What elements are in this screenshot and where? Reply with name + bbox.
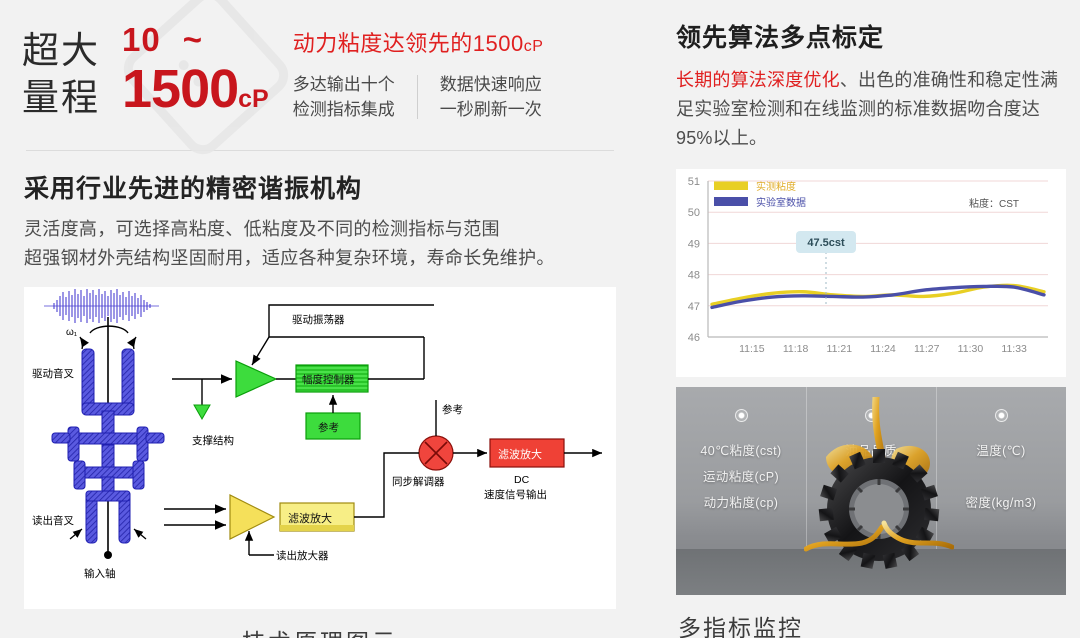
multi-metric-photo-card: 40℃粘度(cst) 运动粘度(cP) 动力粘度(cp) 油品品质 含水率(%)… <box>676 387 1066 595</box>
bullet-dot-icon <box>735 409 748 422</box>
annotation-label: 47.5cst <box>807 237 845 249</box>
filter-amplifier-red-box: 滤波放大 <box>490 439 564 467</box>
legend-swatch-lab <box>714 197 748 206</box>
legend-swatch-measured <box>714 181 748 190</box>
left-section-title: 采用行业先进的精密谐振机构 <box>24 169 618 205</box>
y-tick-label: 46 <box>688 332 700 344</box>
left-section-body-line2: 超强钢材外壳结构坚固耐用，适应各种复杂环境，寿命长免维护。 <box>24 244 618 273</box>
support-structure-label: 支撑结构 <box>192 434 234 447</box>
hero-range-min-row: 10~ <box>122 20 269 60</box>
bullet-dot-icon <box>995 409 1008 422</box>
hero-label-line2: 量程 <box>22 74 100 121</box>
photo-right-line-2: 密度(kg/m3) <box>936 490 1066 516</box>
reference-2-label: 参考 <box>442 403 463 416</box>
photo-column-right: 温度(℃) 密度(kg/m3) <box>936 409 1066 516</box>
y-tick-label: 51 <box>688 176 700 188</box>
hero-claim-unit: cP <box>524 38 544 55</box>
omega-label: ω₁ <box>66 327 78 338</box>
drive-oscillator-label: 驱动振荡器 <box>292 313 345 326</box>
sync-demodulator-icon <box>419 436 453 470</box>
left-panel: 超大 量程 10~ 1500cP 动力粘度达领先的1500cP 多达输出十个 <box>0 0 640 638</box>
speed-signal-output-label: 速度信号输出 <box>484 488 547 501</box>
hero-range-max: 1500 <box>122 59 238 119</box>
legend-label-measured: 实测粘度 <box>756 180 796 193</box>
column-gap <box>640 0 658 638</box>
vertical-divider <box>417 75 418 119</box>
input-shaft-dot <box>104 551 112 559</box>
hero-range-tilde: ~ <box>183 21 203 58</box>
y-tick-label: 47 <box>688 301 700 313</box>
horizontal-divider <box>26 150 614 151</box>
hero-range-unit: cP <box>238 85 269 113</box>
hero-claim: 动力粘度达领先的1500cP <box>293 26 544 58</box>
photo-column-left: 40℃粘度(cst) 运动粘度(cP) 动力粘度(cp) <box>676 409 806 516</box>
hero-claim-text: 动力粘度达领先的1500 <box>293 31 524 56</box>
x-tick-label: 11:24 <box>870 343 896 355</box>
hero-sub-1-line1: 多达输出十个 <box>293 72 395 97</box>
hero-sub-claims: 多达输出十个 检测指标集成 数据快速响应 一秒刷新一次 <box>293 72 544 122</box>
right-panel: 领先算法多点标定 长期的算法深度优化、出色的准确性和稳定性满足实验室检测和在线监… <box>658 0 1080 638</box>
photo-left-line-2: 运动粘度(cP) <box>676 464 806 490</box>
amplitude-controller-label: 幅度控制器 <box>302 373 355 386</box>
hero-sub-2: 数据快速响应 一秒刷新一次 <box>440 72 542 122</box>
x-tick-label: 11:33 <box>1001 343 1027 355</box>
left-section-body-line1: 灵活度高，可选择高粘度、低粘度及不同的检测指标与范围 <box>24 215 618 244</box>
hero-sub-1: 多达输出十个 检测指标集成 <box>293 72 395 122</box>
hero-claims: 动力粘度达领先的1500cP 多达输出十个 检测指标集成 数据快速响应 一秒刷新… <box>293 26 544 122</box>
x-tick-label: 11:18 <box>783 343 809 355</box>
filter-amplifier-yellow-label: 滤波放大 <box>288 511 332 525</box>
drive-fork-label: 驱动音叉 <box>32 367 74 380</box>
hero-range-number: 10~ 1500cP <box>122 20 269 128</box>
hero-label-line1: 超大 <box>22 27 100 74</box>
right-section-title: 领先算法多点标定 <box>676 18 1062 54</box>
x-tick-label: 11:21 <box>827 343 853 355</box>
reference-box-1: 参考 <box>306 413 360 439</box>
y-tick-label: 49 <box>688 238 700 250</box>
hero-sub-2-line1: 数据快速响应 <box>440 72 542 97</box>
x-tick-label: 11:27 <box>914 343 940 355</box>
hero-range-block: 超大 量程 10~ 1500cP 动力粘度达领先的1500cP 多达输出十个 <box>22 0 618 142</box>
chart-unit-note: 粘度：CST <box>969 197 1019 210</box>
right-body-highlight: 长期的算法深度优化 <box>676 70 840 90</box>
hero-sub-1-line2: 检测指标集成 <box>293 97 395 122</box>
sync-demodulator-label: 同步解调器 <box>392 475 445 488</box>
readout-amplifier-label: 读出放大器 <box>276 549 329 562</box>
hero-range-min: 10 <box>122 21 161 58</box>
photo-left-line-1: 40℃粘度(cst) <box>676 438 806 464</box>
y-tick-label: 50 <box>688 207 700 219</box>
gear-oil-svg <box>804 397 954 587</box>
reference-1-label: 参考 <box>318 421 339 434</box>
filter-amplifier-red-label: 滤波放大 <box>498 447 542 461</box>
photo-left-line-3: 动力粘度(cp) <box>676 490 806 516</box>
technical-diagram-svg: ω₁ <box>24 287 616 609</box>
infographic-page: 超大 量程 10~ 1500cP 动力粘度达领先的1500cP 多达输出十个 <box>0 0 1080 638</box>
right-section-body: 长期的算法深度优化、出色的准确性和稳定性满足实验室检测和在线监测的标准数据吻合度… <box>676 66 1062 153</box>
x-tick-label: 11:30 <box>958 343 984 355</box>
filter-amplifier-yellow-box: 滤波放大 <box>280 503 354 531</box>
legend-label-lab: 实验室数据 <box>756 196 806 209</box>
hero-label: 超大 量程 <box>22 27 100 121</box>
dc-label: DC <box>514 474 530 486</box>
viscosity-chart-card: 实测粘度 实验室数据 粘度：CST 464748495051 <box>676 169 1066 377</box>
hero-range-max-row: 1500cP <box>122 60 269 128</box>
photo-caption: 多指标监控 <box>678 609 1062 638</box>
diagram-caption: 技术原理图示 <box>22 623 618 638</box>
x-tick-label: 11:15 <box>739 343 765 355</box>
technical-diagram-card: ω₁ <box>24 287 616 609</box>
gear-oil-illustration <box>804 397 954 587</box>
readout-fork-label: 读出音叉 <box>32 514 74 527</box>
input-shaft-label: 输入轴 <box>84 567 116 580</box>
viscosity-chart-svg: 实测粘度 实验室数据 粘度：CST 464748495051 <box>676 169 1066 377</box>
photo-right-line-1: 温度(℃) <box>936 438 1066 464</box>
amplitude-controller-box: 幅度控制器 <box>296 365 368 392</box>
hero-sub-2-line2: 一秒刷新一次 <box>440 97 542 122</box>
y-tick-label: 48 <box>688 270 700 282</box>
